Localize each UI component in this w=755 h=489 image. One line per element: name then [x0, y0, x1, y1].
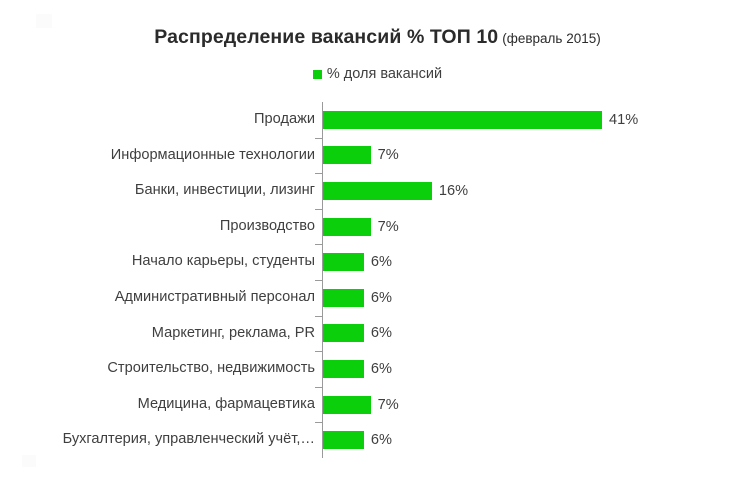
category-label: Медицина, фармацевтика [138, 387, 315, 423]
category-label: Бухгалтерия, управленческий учёт,… [63, 422, 315, 458]
bar[interactable] [323, 324, 364, 342]
bar[interactable] [323, 146, 371, 164]
axis-tick [315, 244, 322, 245]
category-label: Административный персонал [115, 280, 315, 316]
chart-title: Распределение вакансий % ТОП 10(февраль … [0, 28, 755, 48]
bar-chart: Распределение вакансий % ТОП 10(февраль … [0, 0, 755, 489]
category-label: Продажи [254, 102, 315, 138]
chart-legend: % доля вакансий [0, 66, 755, 82]
bar-value-label: 16% [439, 183, 468, 199]
bar[interactable] [323, 253, 364, 271]
bar[interactable] [323, 111, 602, 129]
bar-container: 16% [323, 173, 468, 209]
bar-value-label: 6% [371, 254, 392, 270]
bar-row: Производство7% [0, 209, 755, 245]
category-label: Начало карьеры, студенты [132, 244, 315, 280]
bar-row: Строительство, недвижимость6% [0, 351, 755, 387]
axis-tick [315, 209, 322, 210]
bar-row: Маркетинг, реклама, PR6% [0, 316, 755, 352]
category-label: Банки, инвестиции, лизинг [135, 173, 315, 209]
bar[interactable] [323, 289, 364, 307]
bar-container: 6% [323, 422, 392, 458]
axis-tick [315, 173, 322, 174]
bar-container: 6% [323, 316, 392, 352]
bar-row: Информационные технологии7% [0, 138, 755, 174]
bar-container: 6% [323, 280, 392, 316]
bar-value-label: 7% [378, 397, 399, 413]
category-label: Строительство, недвижимость [107, 351, 315, 387]
legend-label: % доля вакансий [327, 66, 442, 82]
bar-container: 7% [323, 138, 399, 174]
bar-value-label: 6% [371, 361, 392, 377]
legend-entry-share-of-vacancies[interactable]: % доля вакансий [313, 66, 442, 82]
bar-value-label: 6% [371, 325, 392, 341]
bar[interactable] [323, 431, 364, 449]
bar-row: Банки, инвестиции, лизинг16% [0, 173, 755, 209]
bar[interactable] [323, 182, 432, 200]
bar-value-label: 41% [609, 112, 638, 128]
bar-container: 7% [323, 387, 399, 423]
bar-container: 6% [323, 244, 392, 280]
axis-tick [315, 351, 322, 352]
category-label: Маркетинг, реклама, PR [152, 316, 315, 352]
bar-container: 6% [323, 351, 392, 387]
bar[interactable] [323, 218, 371, 236]
axis-tick [315, 280, 322, 281]
category-label: Информационные технологии [111, 138, 315, 174]
bar-container: 41% [323, 102, 638, 138]
axis-tick [315, 387, 322, 388]
bar-value-label: 7% [378, 219, 399, 235]
bar-row: Бухгалтерия, управленческий учёт,…6% [0, 422, 755, 458]
bar-row: Медицина, фармацевтика7% [0, 387, 755, 423]
bar[interactable] [323, 396, 371, 414]
bar-container: 7% [323, 209, 399, 245]
axis-tick [315, 138, 322, 139]
bar-value-label: 7% [378, 147, 399, 163]
axis-tick [315, 316, 322, 317]
bar-value-label: 6% [371, 290, 392, 306]
chart-title-main: Распределение вакансий % ТОП 10 [154, 26, 498, 48]
category-label: Производство [220, 209, 315, 245]
bar[interactable] [323, 360, 364, 378]
bar-row: Начало карьеры, студенты6% [0, 244, 755, 280]
axis-tick [315, 422, 322, 423]
bar-row: Продажи41% [0, 102, 755, 138]
bar-rows: Продажи41%Информационные технологии7%Бан… [0, 102, 755, 458]
bar-value-label: 6% [371, 432, 392, 448]
bar-row: Административный персонал6% [0, 280, 755, 316]
legend-square-marker-icon [313, 70, 322, 79]
scan-artifact [36, 14, 52, 28]
chart-title-subtitle: (февраль 2015) [502, 31, 601, 46]
plot-area: Продажи41%Информационные технологии7%Бан… [0, 100, 755, 462]
